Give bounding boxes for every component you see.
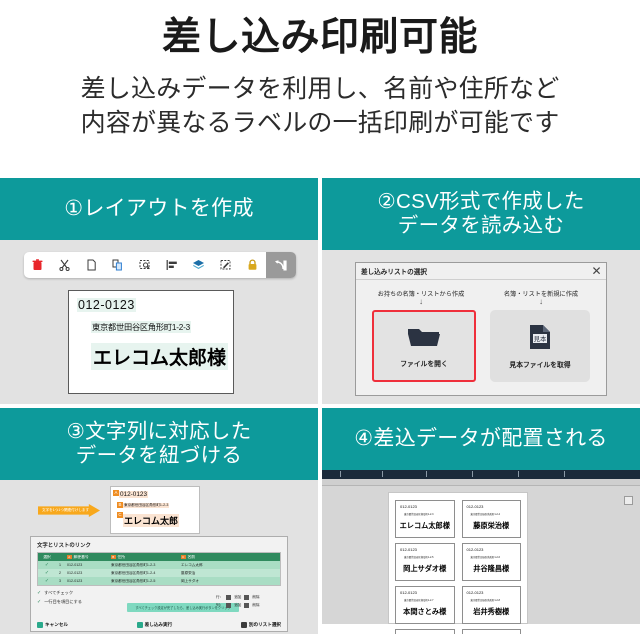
link-dialog-title: 文字とリストのリンク [31, 537, 287, 552]
row-tools: 行： 追加 削除 [216, 595, 282, 600]
edit-path-icon[interactable] [212, 252, 239, 278]
merged-zip: 012-0123 [400, 504, 417, 509]
panel-2-body: 差し込みリストの選択 ✕ お持ちの名簿・リストから作成 ↓ 名簿・リストを新規に… [322, 250, 640, 404]
app-window: 012-0123 東京都世田谷区角形町1-2-3 エレコム太郎様 012-012… [322, 470, 640, 624]
merged-address: 東京都世田谷区角形町1-2-7 [404, 598, 434, 602]
panel-2-title-line-1: ②CSV形式で作成した [377, 190, 584, 214]
row-label: 行： [216, 595, 223, 600]
panel-3-link: ③文字列に対応した データを紐づける 文字を1つ1つ関連付けします A B C … [0, 408, 318, 634]
merged-address: 東京都世田谷区角形町1-2-5 [404, 555, 434, 559]
row-zip: 012-0123 [64, 579, 108, 583]
dialog-buttons: ファイルを開く 見本 見本ファイルを取得 [356, 306, 606, 382]
panel-3-title: ③文字列に対応した データを紐づける [0, 408, 318, 480]
label-zip: 012-0123 [77, 298, 136, 312]
row-name: エレコム太郎 [178, 563, 280, 568]
arrow-down-icon: ↓ [364, 297, 478, 306]
panel-4-title: ④差込データが配置される [322, 408, 640, 470]
layers-icon[interactable] [185, 252, 212, 278]
row-no: 2 [56, 571, 64, 575]
merged-label[interactable]: 012-0123 東京都世田谷区角形町1-2-4 藤原栄治様 [462, 500, 522, 538]
align-icon[interactable] [158, 252, 185, 278]
col-select: 選択 [38, 555, 56, 560]
check-icon: ✓ [45, 562, 49, 568]
panel-2-csv: ②CSV形式で作成した データを読み込む 差し込みリストの選択 ✕ お持ちの名簿… [322, 178, 640, 404]
merged-name: 岡上サダオ様 [396, 564, 454, 574]
page-root: 差し込み印刷可能 差し込みデータを利用し、名前や住所など 内容が異なるラベルの一… [0, 0, 640, 640]
panel-4-result: ④差込データが配置される [322, 408, 640, 634]
subtitle-line-2: 内容が異なるラベルの一括印刷が可能です [0, 106, 640, 141]
ruler [322, 479, 640, 486]
merged-label[interactable]: 012-0123 東京都世田谷区角形町1-2-5 岡上サダオ様 [395, 543, 455, 581]
subtitle-line-1: 差し込みデータを利用し、名前や住所など [0, 72, 640, 107]
check-icon: ✓ [45, 570, 49, 576]
callout-arrow: 文字を1つ1つ関連付けします [38, 504, 100, 517]
merged-address: 東京都世田谷区角形町1-2-3 [404, 512, 434, 516]
select-area-icon[interactable] [132, 252, 159, 278]
page-title: 差し込み印刷可能 [0, 18, 640, 59]
row-no: 3 [56, 579, 64, 583]
dialog-footer: キャンセル 差し込み実行 別のリスト選択 [31, 622, 287, 628]
table-row[interactable]: ✓ 2 012-0123 東京都世田谷区角形町1-2-4 藤原栄治 [38, 569, 280, 577]
merged-name: 本間さとみ様 [396, 607, 454, 617]
col-zip-label: 郵便番号 [74, 555, 89, 560]
folder-small-icon [241, 622, 247, 628]
other-list-label: 別のリスト選択 [249, 622, 281, 628]
editor-toolbar [24, 252, 296, 278]
col-zip: A 郵便番号 [64, 555, 108, 560]
link-table: 選択 A 郵便番号 B 住所 C [37, 552, 281, 586]
dialog-title: 差し込みリストの選択 [361, 266, 427, 276]
execute-merge-button[interactable]: 差し込み実行 [137, 622, 173, 628]
check-icon: ✓ [37, 599, 41, 605]
row-col-tools: 行： 追加 削除 列： 追加 削除 [216, 595, 282, 611]
row-address: 東京都世田谷区角形町1-2-3 [108, 563, 178, 568]
merged-label[interactable]: 012-0123 東京都世田谷区角形町1-2-6 井谷隆昌様 [462, 543, 522, 581]
label-name: エレコム太郎様 [91, 343, 228, 370]
row-add-icon[interactable] [226, 595, 231, 600]
svg-text:見本: 見本 [534, 334, 547, 343]
row-address: 東京都世田谷区角形町1-2-5 [108, 579, 178, 584]
panel-3-title-line-1: ③文字列に対応した [66, 420, 251, 444]
row-check[interactable]: ✓ [38, 570, 56, 576]
merged-name: 井谷隆昌様 [463, 564, 521, 574]
option-first-row-label: 一行目を項目にする [44, 599, 82, 605]
merged-label[interactable]: 012-0123 東京都世田谷区角形町1-2-3 エレコム太郎様 [395, 500, 455, 538]
page-subtitle: 差し込みデータを利用し、名前や住所など 内容が異なるラベルの一括印刷が可能です [0, 72, 640, 141]
panel-3-body: 文字を1つ1つ関連付けします A B C 012-0123 東京都世田谷区角形町… [0, 480, 318, 634]
row-check[interactable]: ✓ [38, 562, 56, 568]
row-del-label[interactable]: 削除 [252, 595, 259, 600]
cancel-label: キャンセル [45, 622, 68, 628]
col-add-label[interactable]: 追加 [234, 603, 241, 608]
hint-right: 名簿・リストを新規に作成 ↓ [484, 289, 598, 306]
cancel-icon [37, 622, 43, 628]
callout-text: 文字を1つ1つ関連付けします [42, 508, 89, 513]
link-dialog: 文字とリストのリンク 選択 A 郵便番号 B 住所 [30, 536, 288, 632]
open-file-label: ファイルを開く [400, 358, 448, 368]
row-add-label[interactable]: 追加 [234, 595, 241, 600]
col-tools: 列： 追加 削除 [216, 603, 282, 608]
close-icon[interactable]: ✕ [588, 263, 605, 279]
badge-b: B [111, 555, 116, 560]
badge-c: C [181, 555, 186, 560]
merged-address: 東京都世田谷区角形町1-2-8 [471, 598, 501, 602]
option-check-all-label: すべてチェック [44, 590, 73, 596]
panel-1-title: ①レイアウトを作成 [0, 178, 318, 240]
row-address: 東京都世田谷区角形町1-2-4 [108, 571, 178, 576]
paste-icon[interactable] [105, 252, 132, 278]
table-row[interactable]: ✓ 1 012-0123 東京都世田谷区角形町1-2-3 エレコム太郎 [38, 561, 280, 569]
merged-address: 東京都世田谷区角形町1-2-6 [471, 555, 501, 559]
sample-file-icon: 見本 [527, 324, 553, 355]
col-label: 列： [216, 603, 223, 608]
preview-name: エレコム太郎 [123, 514, 179, 527]
merged-name: 藤原栄治様 [463, 521, 521, 531]
preview-zip: 012-0123 [119, 491, 148, 498]
merged-zip: 012-0123 [400, 547, 417, 552]
panel-2-title: ②CSV形式で作成した データを読み込む [322, 178, 640, 250]
label-preview-card: 012-0123 東京都世田谷区角形町1-2-3 エレコム太郎様 [68, 290, 234, 394]
merged-zip: 012-0123 [400, 590, 417, 595]
copy-icon[interactable] [78, 252, 105, 278]
check-icon: ✓ [37, 590, 41, 596]
merged-zip: 012-0123 [467, 547, 484, 552]
check-icon: ✓ [45, 578, 49, 584]
merged-name: エレコム太郎様 [396, 521, 454, 531]
row-check[interactable]: ✓ [38, 578, 56, 584]
merged-zip: 012-0123 [467, 590, 484, 595]
merged-zip: 012-0123 [467, 504, 484, 509]
table-row[interactable]: ✓ 3 012-0123 東京都世田谷区角形町1-2-5 岡上サダオ [38, 577, 280, 585]
row-no: 1 [56, 563, 64, 567]
panel-3-label-preview: A B C 012-0123 東京都世田谷区角形町1-2-3 エレコム太郎 [110, 486, 200, 534]
app-titlebar [322, 470, 640, 479]
get-sample-file-button[interactable]: 見本 見本ファイルを取得 [490, 310, 590, 382]
execute-label: 差し込み実行 [145, 622, 173, 628]
open-file-button[interactable]: ファイルを開く [372, 310, 476, 382]
col-add-icon[interactable] [226, 603, 231, 608]
select-other-list-button[interactable]: 別のリスト選択 [241, 622, 281, 628]
panel-1-layout: ①レイアウトを作成 [0, 178, 318, 404]
rotate-icon[interactable] [266, 252, 296, 278]
row-name: 藤原栄治 [178, 571, 280, 576]
preview-address: 東京都世田谷区角形町1-2-3 [123, 503, 169, 508]
col-address: B 住所 [108, 555, 178, 560]
merge-list-dialog: 差し込みリストの選択 ✕ お持ちの名簿・リストから作成 ↓ 名簿・リストを新規に… [355, 262, 607, 396]
hint-left: お持ちの名簿・リストから作成 ↓ [364, 289, 478, 306]
panel-3-title-line-2: データを紐づける [66, 444, 251, 468]
col-name: C 名前 [178, 555, 280, 560]
merged-name: 岩井秀樹様 [463, 607, 521, 617]
merged-address: 東京都世田谷区角形町1-2-4 [471, 512, 501, 516]
row-name: 岡上サダオ [178, 579, 280, 584]
label-grid: 012-0123 東京都世田谷区角形町1-2-3 エレコム太郎様 012-012… [389, 493, 527, 634]
delete-icon[interactable] [24, 252, 51, 278]
zoom-fit-button[interactable] [624, 496, 633, 505]
label-address: 東京都世田谷区角形町1-2-3 [91, 321, 191, 333]
col-name-label: 名前 [188, 555, 196, 560]
table-header-row: 選択 A 郵便番号 B 住所 C [38, 553, 280, 561]
col-address-label: 住所 [118, 555, 126, 560]
cut-icon[interactable] [51, 252, 78, 278]
panel-4-body: 012-0123 東京都世田谷区角形町1-2-3 エレコム太郎様 012-012… [322, 470, 640, 624]
row-del-icon[interactable] [244, 595, 249, 600]
merged-label-partial[interactable] [395, 629, 455, 634]
cancel-button[interactable]: キャンセル [37, 622, 68, 628]
badge-a: A [67, 555, 72, 560]
dialog-titlebar: 差し込みリストの選択 ✕ [356, 263, 606, 280]
merged-label[interactable]: 012-0123 東京都世田谷区角形町1-2-7 本間さとみ様 [395, 586, 455, 624]
lock-icon[interactable] [239, 252, 266, 278]
row-zip: 012-0123 [64, 571, 108, 575]
row-zip: 012-0123 [64, 563, 108, 567]
execute-icon [137, 622, 143, 628]
header: 差し込み印刷可能 差し込みデータを利用し、名前や住所など 内容が異なるラベルの一… [0, 0, 640, 145]
merged-label-partial[interactable] [462, 629, 522, 634]
panel-2-title-line-2: データを読み込む [377, 214, 584, 238]
col-del-icon[interactable] [244, 603, 249, 608]
arrow-down-icon-2: ↓ [484, 297, 598, 306]
folder-icon [407, 325, 441, 354]
panel-grid: ①レイアウトを作成 [0, 178, 640, 640]
get-sample-file-label: 見本ファイルを取得 [509, 359, 570, 369]
merged-label[interactable]: 012-0123 東京都世田谷区角形町1-2-8 岩井秀樹様 [462, 586, 522, 624]
col-del-label[interactable]: 削除 [252, 603, 259, 608]
panel-1-body: 012-0123 東京都世田谷区角形町1-2-3 エレコム太郎様 [0, 240, 318, 404]
dialog-hints: お持ちの名簿・リストから作成 ↓ 名簿・リストを新規に作成 ↓ [356, 280, 606, 306]
label-sheet: 012-0123 東京都世田谷区角形町1-2-3 エレコム太郎様 012-012… [388, 492, 528, 624]
